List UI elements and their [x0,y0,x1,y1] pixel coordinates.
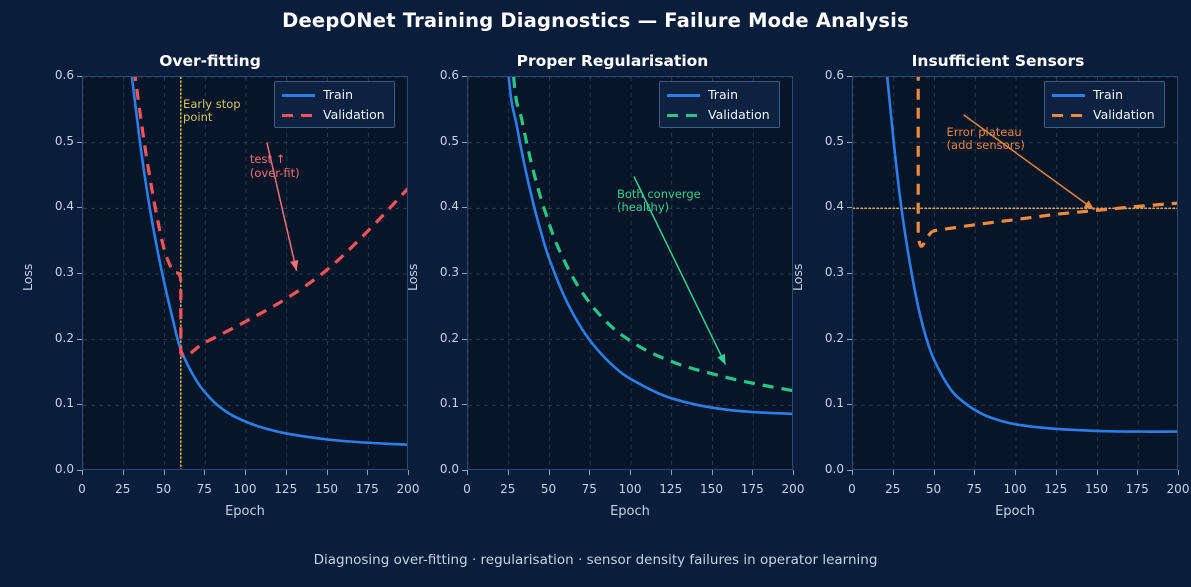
y-axis-tick-label: 0.1 [419,396,459,410]
y-axis-tick-label: 0.1 [34,396,74,410]
y-axis-tick-label: 0.5 [419,134,459,148]
y-axis-tick-label: 0.6 [419,68,459,82]
y-axis-tick-mark [847,339,852,340]
converge-annotation: Both converge (healthy) [617,188,701,215]
y-axis-tick-mark [462,142,467,143]
x-axis-tick-mark [1097,470,1098,475]
y-axis-tick-label: 0.4 [419,199,459,213]
y-axis-tick-label: 0.5 [34,134,74,148]
y-axis-tick-label: 0.0 [804,462,844,476]
x-axis-tick-mark [1056,470,1057,475]
y-axis-tick-label: 0.5 [804,134,844,148]
x-axis-tick-mark [408,470,409,475]
y-axis-tick-mark [77,142,82,143]
legend-swatch-validation [667,109,700,121]
overfit-annotation: test ↑ (over-fit) [250,153,300,180]
legend-label: Validation [708,107,770,122]
plateau-annotation: Error plateau (add sensors) [947,126,1025,153]
x-axis-tick-mark [974,470,975,475]
series-line-train [99,77,408,445]
x-axis-tick-mark [508,470,509,475]
overfit-annotation-arrowhead [290,260,298,271]
legend[interactable]: TrainValidation [1044,81,1165,128]
x-axis-tick-mark [367,470,368,475]
y-axis-tick-label: 0.0 [34,462,74,476]
legend-swatch-train [1052,89,1085,101]
legend-item-train[interactable]: Train [282,87,385,102]
y-axis-tick-mark [77,404,82,405]
legend-item-train[interactable]: Train [667,87,770,102]
legend-item-validation[interactable]: Validation [282,107,385,122]
y-axis-tick-mark [462,404,467,405]
x-axis-label: Epoch [467,504,793,519]
y-axis-tick-mark [77,339,82,340]
legend-label: Train [1093,87,1123,102]
x-axis-tick-mark [164,470,165,475]
legend-swatch-validation [282,109,315,121]
subplot-title: Proper Regularisation [420,52,805,70]
figure-canvas: DeepONet Training Diagnostics — Failure … [0,0,1191,587]
x-axis-tick-mark [589,470,590,475]
y-axis-tick-label: 0.3 [34,265,74,279]
x-axis-tick-mark [467,470,468,475]
y-axis-tick-label: 0.6 [34,68,74,82]
subplot-title: Insufficient Sensors [805,52,1191,70]
y-axis-tick-mark [462,273,467,274]
legend-swatch-train [282,89,315,101]
y-axis-tick-label: 0.4 [804,199,844,213]
x-axis-tick-mark [630,470,631,475]
y-axis-tick-mark [847,142,852,143]
y-axis-label: Loss [20,264,35,291]
early-stop-annotation: Early stop point [183,98,241,125]
legend-label: Validation [1093,107,1155,122]
y-axis-tick-mark [847,76,852,77]
plot-canvas [83,77,408,470]
subplot-insufficient-sensors: Insufficient Sensors Error plateau (add … [805,0,1191,540]
subplot-proper-regularisation: Proper Regularisation Both converge (hea… [420,0,805,540]
legend[interactable]: TrainValidation [274,81,395,128]
x-axis-label: Epoch [82,504,408,519]
figure-footer: Diagnosing over-fitting · regularisation… [0,552,1191,568]
y-axis-tick-label: 0.2 [34,331,74,345]
y-axis-tick-label: 0.2 [804,331,844,345]
y-axis-tick-mark [462,76,467,77]
x-axis-tick-mark [934,470,935,475]
plot-area [82,76,408,470]
plot-area [467,76,793,470]
x-axis-tick-mark [549,470,550,475]
x-axis-tick-mark [793,470,794,475]
legend-label: Validation [323,107,385,122]
y-axis-tick-mark [847,273,852,274]
legend[interactable]: TrainValidation [659,81,780,128]
y-axis-tick-mark [847,207,852,208]
x-axis-tick-mark [752,470,753,475]
y-axis-tick-mark [847,404,852,405]
y-axis-tick-label: 0.6 [804,68,844,82]
x-axis-tick-mark [327,470,328,475]
x-axis-tick-mark [286,470,287,475]
y-axis-tick-label: 0.0 [419,462,459,476]
x-axis-tick-mark [712,470,713,475]
x-axis-tick-mark [671,470,672,475]
y-axis-tick-label: 0.2 [419,331,459,345]
x-axis-tick-mark [245,470,246,475]
x-axis-tick-mark [1137,470,1138,475]
y-axis-tick-label: 0.3 [804,265,844,279]
y-axis-tick-mark [462,207,467,208]
y-axis-tick-label: 0.1 [804,396,844,410]
y-axis-tick-mark [462,339,467,340]
y-axis-tick-label: 0.3 [419,265,459,279]
y-axis-label: Loss [405,264,420,291]
legend-label: Train [708,87,738,102]
x-axis-tick-mark [1015,470,1016,475]
y-axis-tick-mark [77,273,82,274]
y-axis-label: Loss [790,264,805,291]
legend-item-validation[interactable]: Validation [1052,107,1155,122]
x-axis-tick-mark [123,470,124,475]
x-axis-tick-label: 200 [1153,482,1191,496]
subplot-over-fitting: Over-fitting Early stop pointtest ↑ (ove… [0,0,420,540]
legend-swatch-validation [1052,109,1085,121]
x-axis-tick-mark [1178,470,1179,475]
legend-item-validation[interactable]: Validation [667,107,770,122]
y-axis-tick-mark [77,76,82,77]
x-axis-tick-mark [852,470,853,475]
x-axis-tick-mark [82,470,83,475]
legend-swatch-train [667,89,700,101]
y-axis-tick-label: 0.4 [34,199,74,213]
y-axis-tick-mark [77,207,82,208]
x-axis-tick-mark [893,470,894,475]
x-axis-tick-mark [204,470,205,475]
legend-item-train[interactable]: Train [1052,87,1155,102]
plot-canvas [468,77,793,470]
x-axis-label: Epoch [852,504,1178,519]
legend-label: Train [323,87,353,102]
